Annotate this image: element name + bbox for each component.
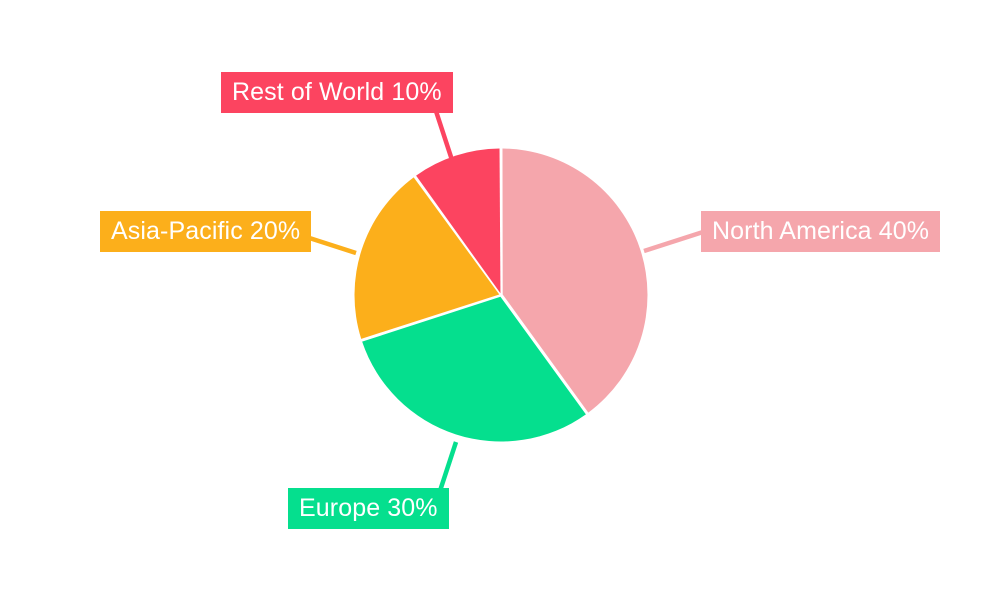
- pie-slices: [355, 149, 648, 442]
- slice-label-asia-pacific-text: Asia-Pacific 20%: [111, 219, 300, 244]
- pie-chart: North America 40% Europe 30% Asia-Pacifi…: [0, 0, 1000, 600]
- slice-label-asia-pacific[interactable]: Asia-Pacific 20%: [100, 211, 311, 252]
- pie-chart-canvas: [0, 0, 1000, 600]
- slice-label-europe[interactable]: Europe 30%: [288, 488, 449, 529]
- leader-line-north-america: [644, 232, 703, 251]
- slice-label-europe-text: Europe 30%: [299, 496, 438, 521]
- slice-label-rest-of-world-text: Rest of World 10%: [232, 80, 442, 105]
- slice-label-north-america-text: North America 40%: [712, 219, 929, 244]
- slice-label-rest-of-world[interactable]: Rest of World 10%: [221, 72, 453, 113]
- slice-label-north-america[interactable]: North America 40%: [701, 211, 940, 252]
